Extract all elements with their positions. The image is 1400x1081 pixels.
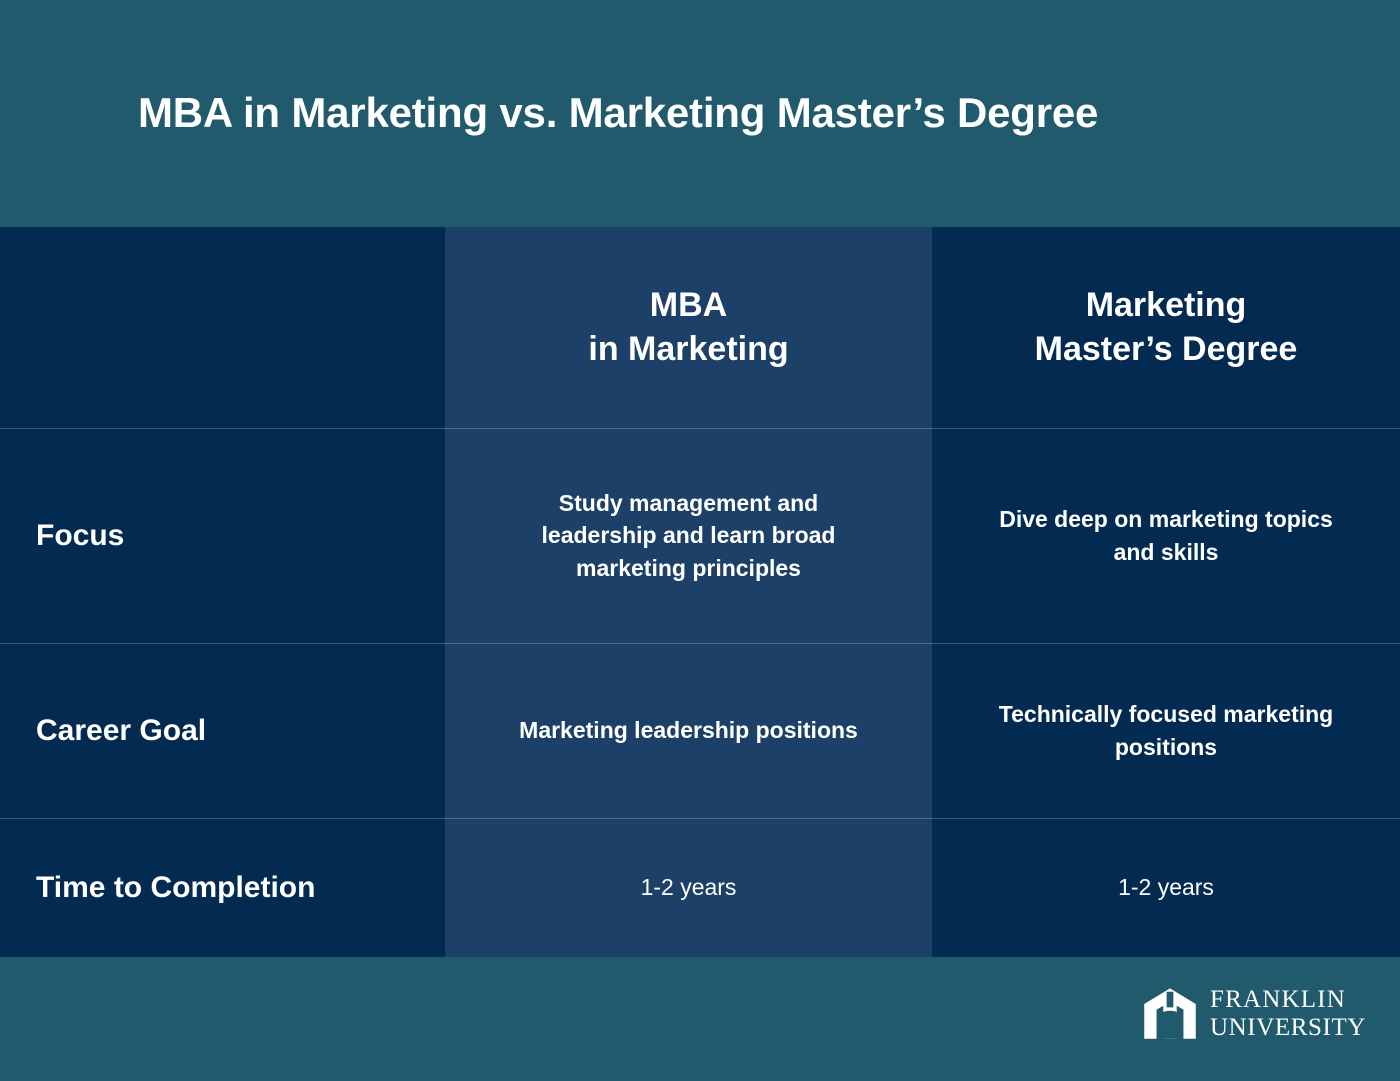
cell-career-goal-masters: Technically focused marketing positions bbox=[932, 643, 1400, 818]
column-title-masters-line1: Marketing bbox=[1035, 284, 1298, 328]
row-label-cell-time-to-completion: Time to Completion bbox=[0, 818, 445, 957]
cell-text-career-goal-mba: Marketing leadership positions bbox=[519, 714, 858, 747]
header-cell-masters: Marketing Master’s Degree bbox=[932, 227, 1400, 428]
column-title-mba: MBA in Marketing bbox=[588, 284, 788, 371]
column-title-masters: Marketing Master’s Degree bbox=[1035, 284, 1298, 371]
cell-time-masters: 1-2 years bbox=[932, 818, 1400, 957]
cell-career-goal-mba: Marketing leadership positions bbox=[445, 643, 932, 818]
cell-focus-mba: Study management and leadership and lear… bbox=[445, 428, 932, 643]
cell-time-mba: 1-2 years bbox=[445, 818, 932, 957]
column-title-mba-line2: in Marketing bbox=[588, 328, 788, 372]
cell-text-career-goal-masters: Technically focused marketing positions bbox=[976, 698, 1356, 763]
franklin-university-logo: FRANKLIN UNIVERSITY bbox=[1142, 985, 1366, 1041]
row-label-time-to-completion: Time to Completion bbox=[36, 870, 315, 906]
row-label-cell-career-goal: Career Goal bbox=[0, 643, 445, 818]
cell-text-time-mba: 1-2 years bbox=[641, 871, 737, 904]
header-cell-blank bbox=[0, 227, 445, 428]
header-cell-mba: MBA in Marketing bbox=[445, 227, 932, 428]
row-label-career-goal: Career Goal bbox=[36, 713, 206, 749]
cell-text-focus-mba: Study management and leadership and lear… bbox=[499, 487, 879, 585]
row-label-cell-focus: Focus bbox=[0, 428, 445, 643]
logo-word-franklin: FRANKLIN bbox=[1210, 987, 1366, 1012]
table-row: Focus Study management and leadership an… bbox=[0, 428, 1400, 643]
table-row: Time to Completion 1-2 years 1-2 years bbox=[0, 818, 1400, 957]
footer-band: FRANKLIN UNIVERSITY bbox=[0, 957, 1400, 1081]
column-title-mba-line1: MBA bbox=[588, 284, 788, 328]
cell-text-focus-masters: Dive deep on marketing topics and skills bbox=[976, 503, 1356, 568]
page-title: MBA in Marketing vs. Marketing Master’s … bbox=[0, 90, 1158, 136]
column-title-masters-line2: Master’s Degree bbox=[1035, 328, 1298, 372]
title-band: MBA in Marketing vs. Marketing Master’s … bbox=[0, 0, 1400, 227]
table-row: Career Goal Marketing leadership positio… bbox=[0, 643, 1400, 818]
row-label-focus: Focus bbox=[36, 518, 124, 554]
cell-focus-masters: Dive deep on marketing topics and skills bbox=[932, 428, 1400, 643]
logo-word-university: UNIVERSITY bbox=[1210, 1015, 1366, 1040]
infographic-root: MBA in Marketing vs. Marketing Master’s … bbox=[0, 0, 1400, 1081]
cell-text-time-masters: 1-2 years bbox=[1118, 871, 1214, 904]
franklin-arch-logo-icon bbox=[1142, 985, 1198, 1041]
comparison-table: MBA in Marketing Marketing Master’s Degr… bbox=[0, 227, 1400, 957]
table-header-row: MBA in Marketing Marketing Master’s Degr… bbox=[0, 227, 1400, 428]
logo-wordmark: FRANKLIN UNIVERSITY bbox=[1210, 987, 1366, 1040]
